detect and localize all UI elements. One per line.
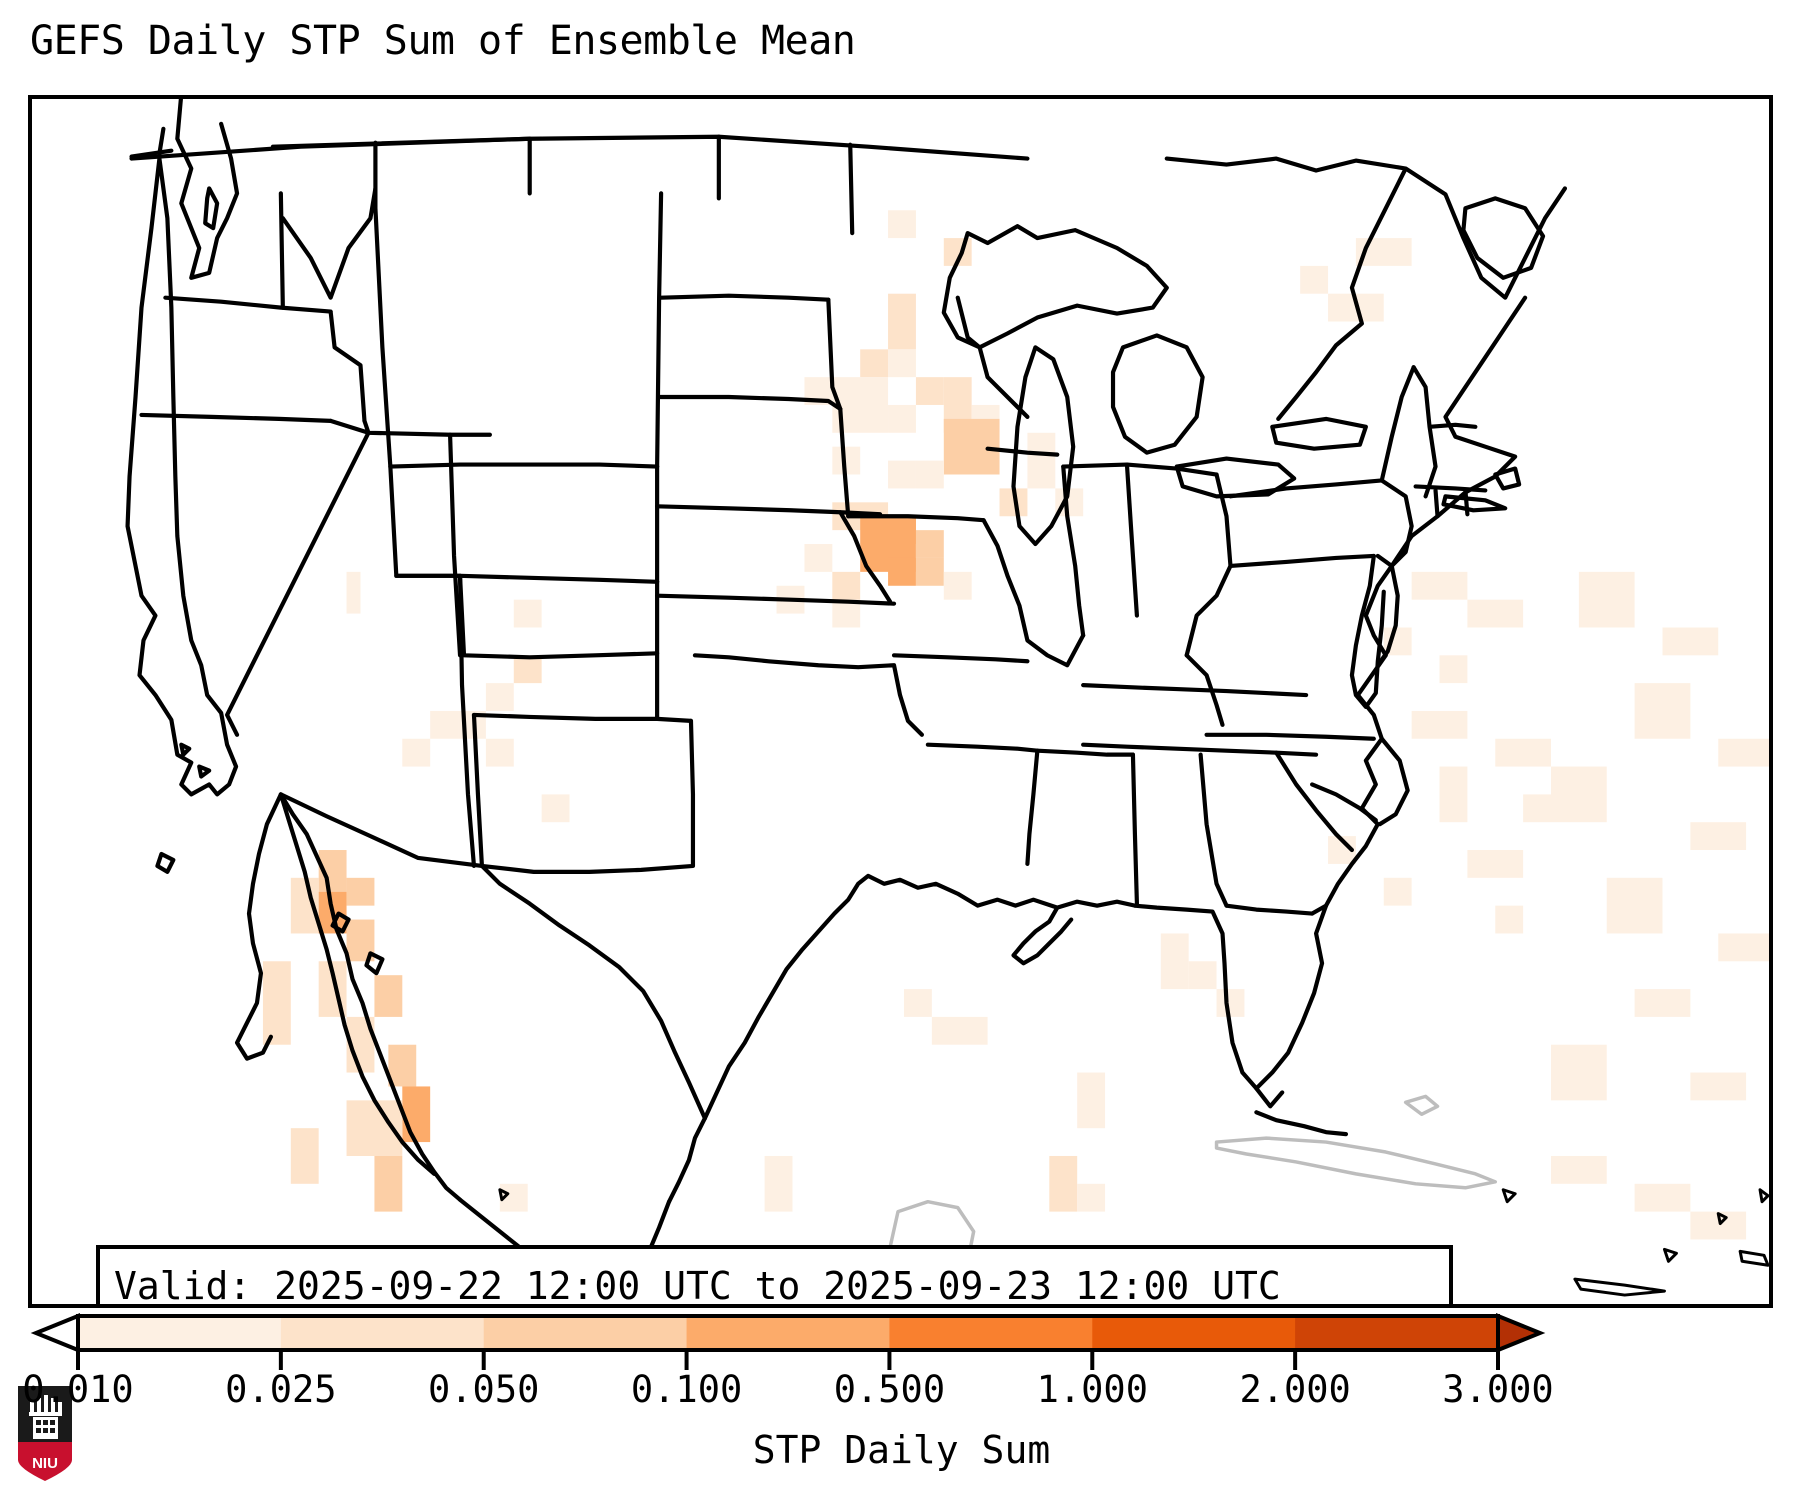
info-valid-line: Valid: 2025-09-22 12:00 UTC to 2025-09-2… (114, 1257, 1435, 1308)
colorbar-band (687, 1316, 890, 1350)
stp-grid-cell (514, 600, 542, 628)
stp-grid-cell (1551, 767, 1607, 823)
stp-grid-cell (1055, 488, 1083, 516)
stp-grid-cell (832, 572, 860, 600)
stp-grid-cell (347, 1100, 403, 1156)
stp-grid-cell (944, 419, 1000, 475)
stp-grid-cell (1718, 933, 1769, 961)
stp-grid-cell (1467, 850, 1523, 878)
colorbar-band (889, 1316, 1092, 1350)
stp-grid-cell (804, 544, 832, 572)
stp-grid-cell (944, 572, 972, 600)
colorbar-band (1092, 1316, 1295, 1350)
colorbar-band (281, 1316, 484, 1350)
stp-grid-cell (765, 1156, 793, 1212)
stp-grid-cell (319, 850, 347, 892)
stp-grid-cell (1635, 683, 1691, 739)
stp-grid-cell (1384, 627, 1412, 655)
stp-grid-cell (1384, 878, 1412, 906)
stp-grid-cell (888, 210, 916, 238)
stp-grid-cell (1328, 294, 1384, 322)
stp-grid-cell (1495, 739, 1551, 767)
stp-grid-cell (1690, 1073, 1746, 1101)
stp-grid-cell (374, 1156, 402, 1212)
stp-grid-cell (1523, 794, 1551, 822)
stp-grid-cell (1635, 1184, 1691, 1212)
stp-grid-cell (832, 447, 860, 475)
colorbar-tick-label: 0.025 (225, 1368, 336, 1411)
stp-grid-cell (916, 377, 944, 405)
stp-grid-cell (347, 572, 361, 614)
colorbar-tick-label: 1.000 (1037, 1368, 1148, 1411)
stp-grid-cell (804, 377, 832, 405)
stp-grid-cell (916, 558, 944, 586)
stp-grid-cell (888, 405, 916, 433)
stp-grid-cell (402, 739, 430, 767)
stp-grid-cell (291, 1128, 319, 1184)
stp-grid-cell (888, 461, 916, 489)
stp-grid-cell (932, 1017, 988, 1045)
stp-grid-cell (916, 461, 944, 489)
colorbar-band (78, 1316, 281, 1350)
stp-grid-cell (1412, 711, 1468, 739)
stp-grid-cell (832, 600, 860, 628)
stp-grid-cell (1077, 1184, 1105, 1212)
stp-grid-cell (944, 238, 972, 266)
stp-grid-cell (347, 920, 375, 962)
colorbar-arrow-over (1498, 1316, 1540, 1350)
colorbar-tick-label: 0.010 (22, 1368, 133, 1411)
stp-grid-cell (888, 558, 916, 586)
stp-heatmap-layer (32, 99, 1769, 1304)
stp-grid-cell (1189, 961, 1217, 989)
stp-grid-cell (347, 1017, 375, 1073)
map-canvas (32, 99, 1769, 1304)
stp-grid-cell (1579, 572, 1635, 628)
stp-grid-cell (319, 961, 347, 1017)
stp-grid-cell (1440, 767, 1468, 823)
stp-grid-cell (1440, 655, 1468, 683)
stp-grid-cell (1000, 488, 1028, 516)
stp-grid-cell (1607, 878, 1663, 934)
colorbar-tick-label: 0.100 (631, 1368, 742, 1411)
stp-grid-cell (1690, 1212, 1746, 1240)
stp-grid-cell (860, 349, 888, 377)
stp-grid-cell (888, 294, 916, 350)
stp-grid-cell (1495, 906, 1523, 934)
stp-grid-cell (347, 878, 375, 906)
stp-grid-cell (388, 1045, 416, 1087)
stp-grid-cell (1356, 238, 1412, 266)
colorbar-label: STP Daily Sum (0, 1428, 1803, 1472)
colorbar-band (1295, 1316, 1498, 1350)
logo-text: NIU (32, 1455, 58, 1472)
stp-grid-cell (1690, 822, 1746, 850)
stp-grid-cell (458, 711, 486, 739)
stp-grid-cell (514, 655, 542, 683)
colorbar-tick-label: 3.000 (1442, 1368, 1553, 1411)
colorbar-arrow-under (36, 1316, 78, 1350)
stp-grid-cell (263, 961, 291, 1044)
stp-grid-cell (291, 878, 319, 934)
colorbar-tick-label: 2.000 (1239, 1368, 1350, 1411)
stp-grid-cell (1635, 989, 1691, 1017)
stp-grid-cell (374, 975, 402, 1017)
stp-grid-cell (402, 1086, 430, 1142)
colorbar-tick-label: 0.050 (428, 1368, 539, 1411)
stp-grid-cell (1077, 1073, 1105, 1129)
stp-grid-cell (888, 516, 916, 544)
stp-grid-cell (1300, 266, 1328, 294)
stp-grid-cell (916, 530, 944, 558)
stp-grid-cell (542, 794, 570, 822)
stp-grid-cell (1412, 572, 1468, 600)
stp-grid-cell (319, 892, 347, 934)
stp-grid-cell (888, 349, 916, 377)
stp-grid-cell (486, 683, 514, 711)
stp-grid-cell (1161, 933, 1189, 989)
stp-grid-cell (430, 711, 458, 739)
map-frame: Valid: 2025-09-22 12:00 UTC to 2025-09-2… (28, 95, 1773, 1308)
stp-grid-cell (1662, 627, 1718, 655)
stp-grid-cell (1467, 600, 1523, 628)
stp-grid-cell (1049, 1156, 1077, 1212)
info-box: Valid: 2025-09-22 12:00 UTC to 2025-09-2… (96, 1245, 1453, 1308)
colorbar-tick-label: 0.500 (834, 1368, 945, 1411)
stp-grid-cell (1718, 739, 1769, 767)
stp-grid-cell (1328, 836, 1356, 864)
page-title: GEFS Daily STP Sum of Ensemble Mean (30, 18, 855, 64)
colorbar-band (484, 1316, 687, 1350)
stp-grid-cell (486, 739, 514, 767)
stp-grid-cell (1551, 1156, 1607, 1184)
stp-grid-cell (500, 1184, 528, 1212)
stp-grid-cell (1027, 433, 1055, 489)
stp-grid-cell (832, 377, 888, 433)
stp-grid-cell (1217, 989, 1245, 1017)
stp-grid-cell (904, 989, 932, 1017)
stp-grid-cell (1551, 1045, 1607, 1101)
stp-grid-cell (777, 586, 805, 614)
